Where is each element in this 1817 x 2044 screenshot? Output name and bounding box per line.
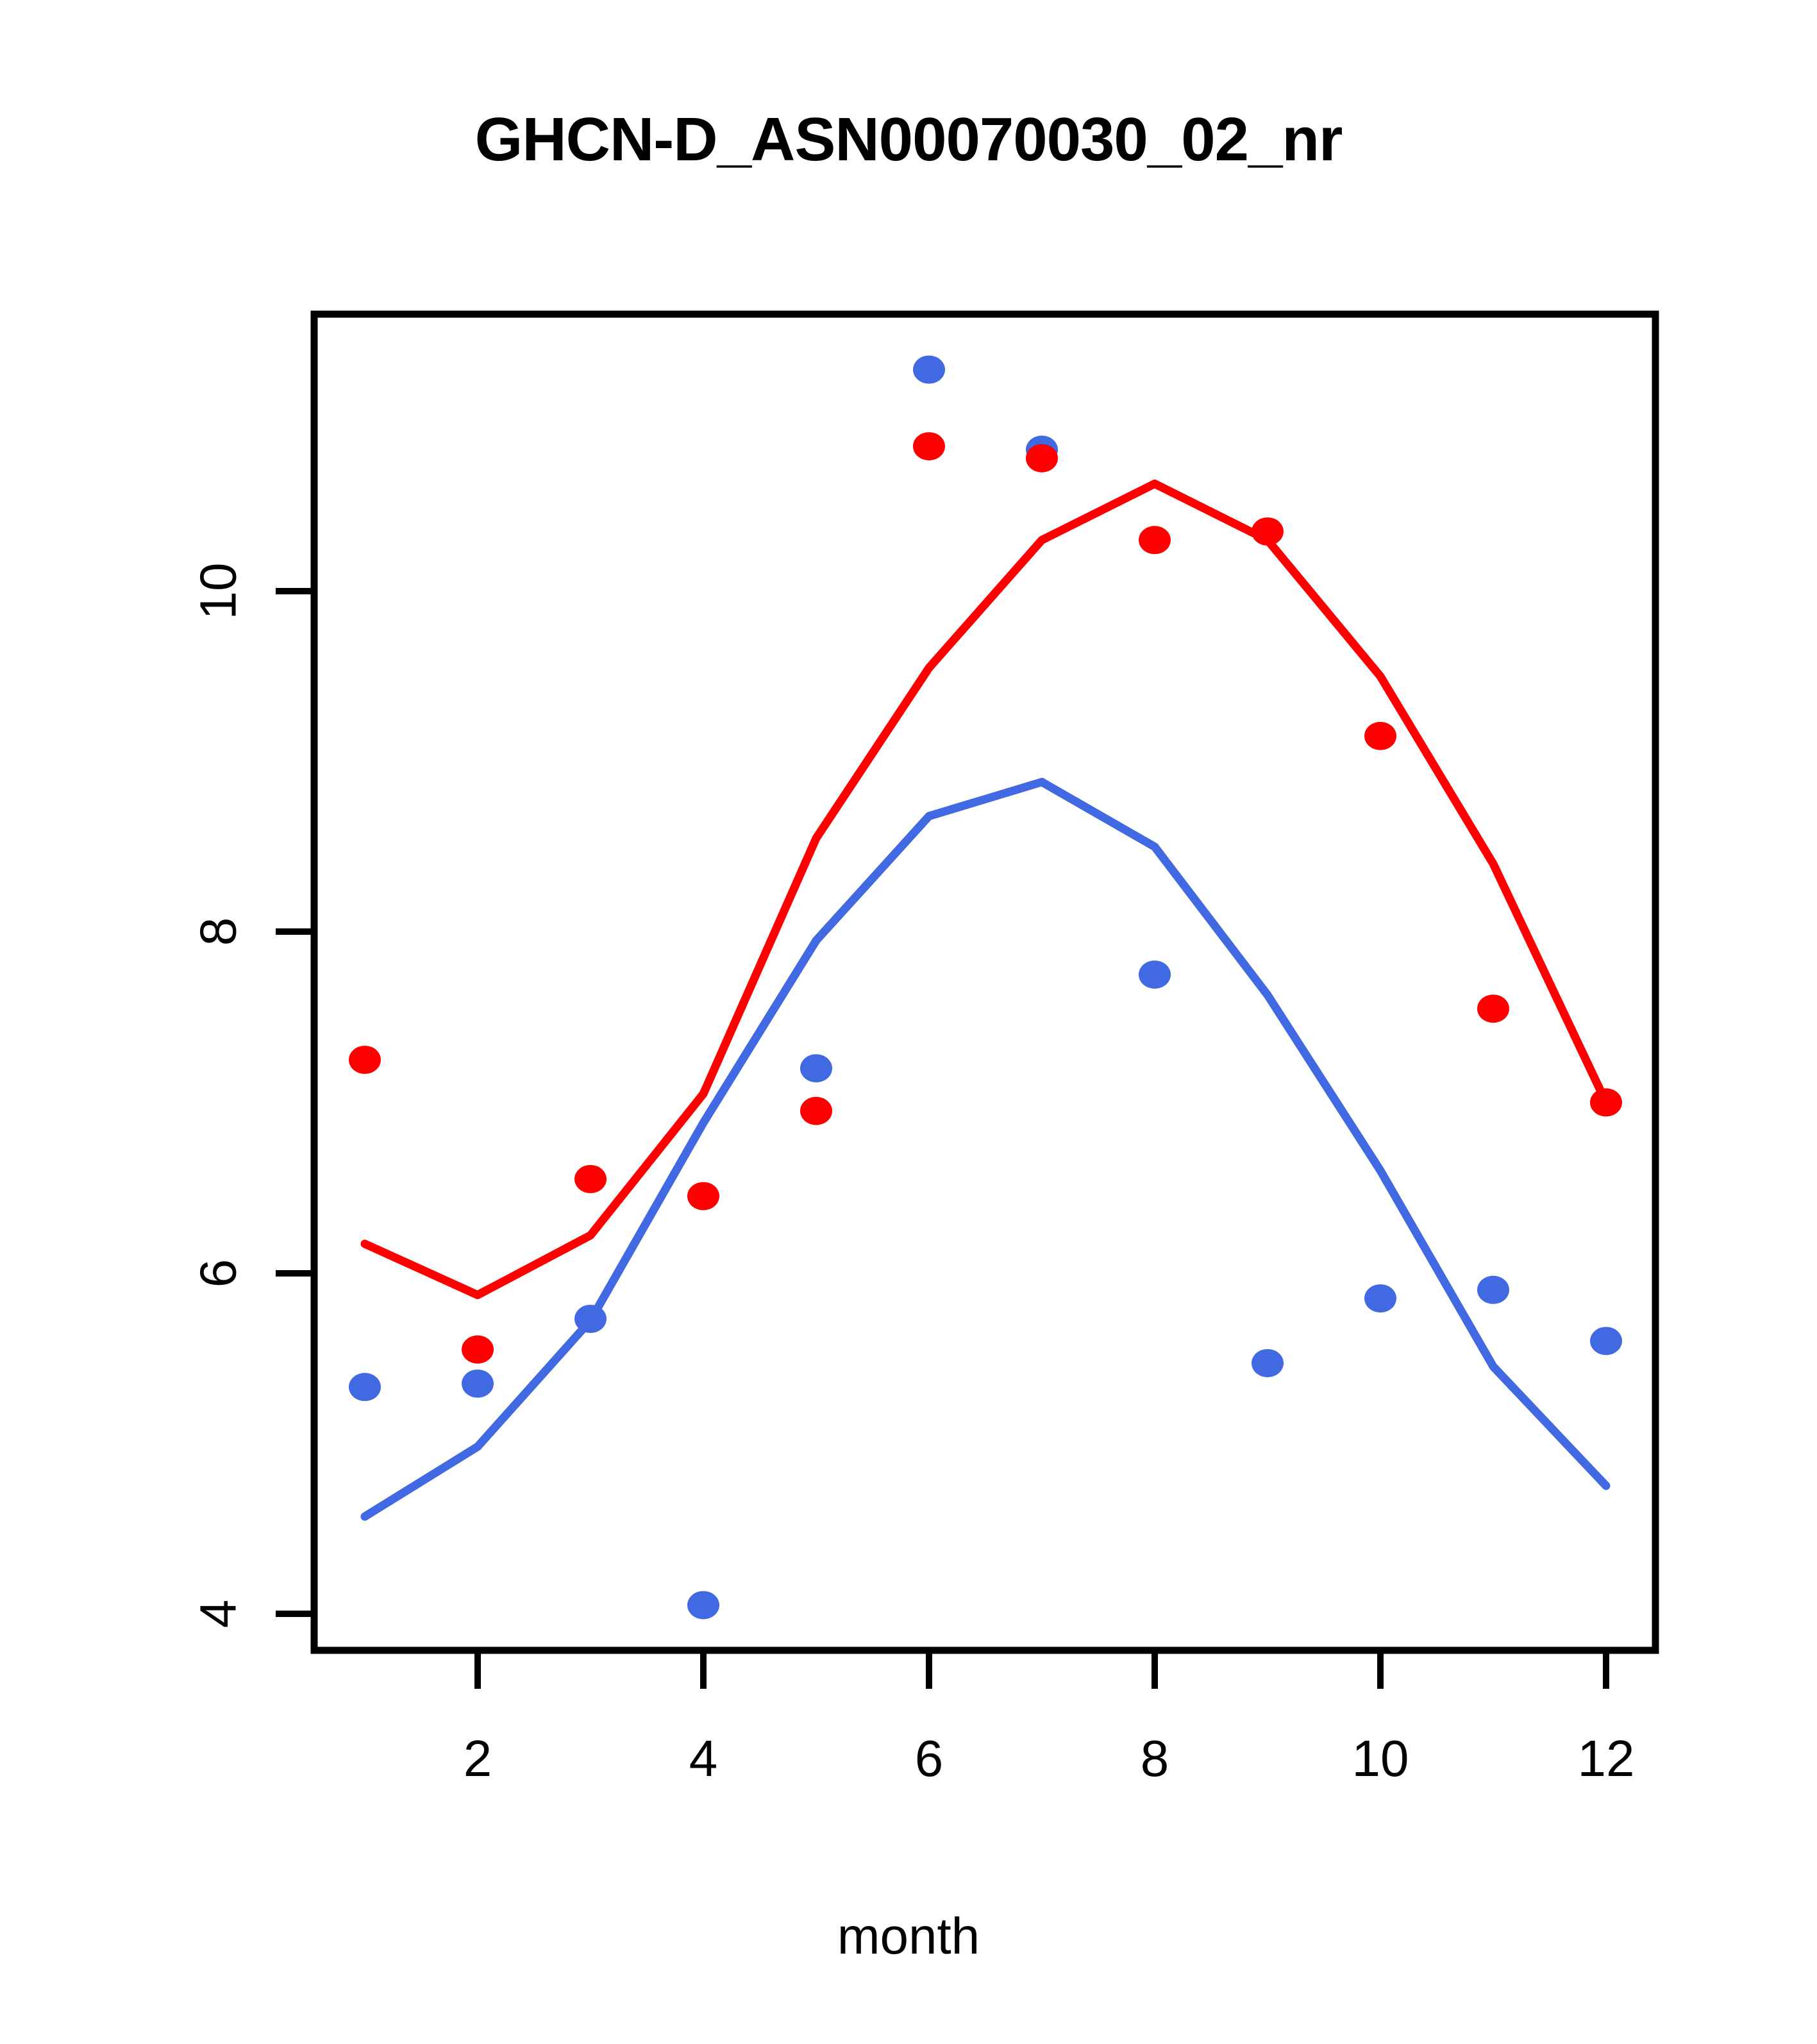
data-point [1477, 994, 1509, 1023]
data-point [349, 1046, 381, 1074]
plot-frame [314, 314, 1655, 1650]
data-point [687, 1182, 719, 1210]
data-point [462, 1336, 494, 1364]
figure-canvas: GHCN-D_ASN00070030_02_nr 10 8 6 4 [0, 0, 1817, 2044]
x-tick-label-10: 10 [1352, 1730, 1409, 1787]
series-path [365, 484, 1606, 1295]
y-tick-label-4: 4 [190, 1600, 247, 1629]
series-blue-points [349, 356, 1622, 1620]
y-axis-tick-labels: 10 8 6 4 [190, 563, 247, 1629]
data-point [800, 1097, 832, 1125]
data-point [913, 356, 945, 384]
data-point [574, 1165, 607, 1193]
series-red-line [365, 484, 1606, 1295]
x-tick-label-4: 4 [689, 1730, 718, 1787]
data-point [349, 1373, 381, 1401]
x-tick-label-8: 8 [1141, 1730, 1169, 1787]
y-axis-ticks [276, 591, 314, 1614]
x-axis-ticks [478, 1650, 1606, 1689]
data-point [1364, 1284, 1396, 1312]
data-point [1026, 444, 1058, 473]
data-point [1252, 517, 1284, 546]
y-tick-label-8: 8 [190, 917, 247, 946]
data-point [462, 1370, 494, 1398]
x-axis-tick-labels: 2 4 6 8 10 12 [464, 1730, 1635, 1787]
data-point [913, 432, 945, 460]
plot-area: 10 8 6 4 2 4 6 8 10 12 [0, 0, 1817, 2044]
data-point [574, 1305, 607, 1333]
x-tick-label-2: 2 [464, 1730, 492, 1787]
data-point [800, 1054, 832, 1082]
data-point [1139, 960, 1171, 989]
series-blue-line [365, 782, 1606, 1517]
series-red-points [349, 432, 1622, 1364]
data-point [687, 1591, 719, 1620]
data-point [1364, 722, 1396, 750]
x-tick-label-6: 6 [915, 1730, 944, 1787]
data-point [1477, 1276, 1509, 1304]
data-point [1139, 526, 1171, 554]
data-point [1590, 1327, 1622, 1355]
data-point [1252, 1349, 1284, 1377]
data-point [1590, 1088, 1622, 1116]
y-tick-label-10: 10 [190, 563, 247, 620]
series-path [365, 782, 1606, 1517]
x-axis-label: month [0, 1911, 1817, 1962]
y-tick-label-6: 6 [190, 1259, 247, 1288]
x-tick-label-12: 12 [1578, 1730, 1635, 1787]
